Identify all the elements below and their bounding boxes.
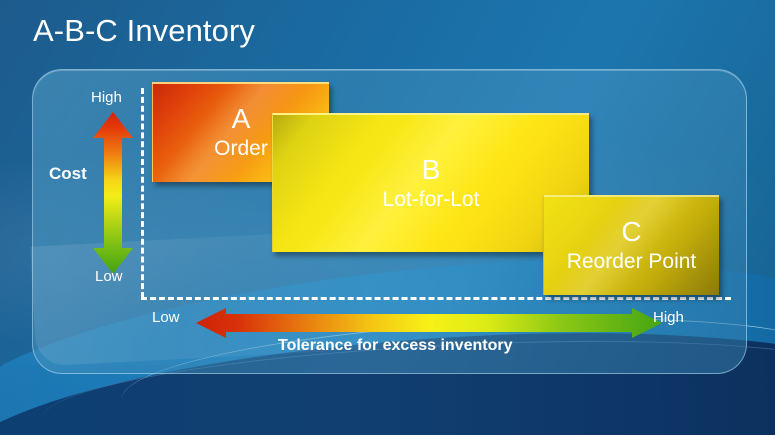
box-a-letter: A [232,105,251,133]
cost-axis-low-label: Low [95,268,123,285]
box-b-policy: Lot-for-Lot [383,188,480,211]
cost-axis-title: Cost [49,164,87,184]
cost-gradient-arrow-icon [92,112,134,274]
category-box-c[interactable]: C Reorder Point [543,195,719,295]
tolerance-axis-title: Tolerance for excess inventory [278,337,512,355]
tolerance-axis-high-label: High [653,309,684,326]
category-box-b[interactable]: B Lot-for-Lot [272,113,589,252]
box-a-policy: Order [214,137,268,160]
slide-title: A-B-C Inventory [33,13,255,49]
slide-canvas: A-B-C Inventory [0,0,775,435]
box-c-policy: Reorder Point [567,250,697,273]
box-c-letter: C [621,218,641,246]
cost-axis-high-label: High [91,89,122,106]
tolerance-gradient-arrow-icon [196,308,662,338]
tolerance-axis-low-label: Low [152,309,180,326]
horizontal-axis-dashed-line [141,297,731,300]
box-b-letter: B [422,156,441,184]
vertical-axis-dashed-line [141,88,144,298]
